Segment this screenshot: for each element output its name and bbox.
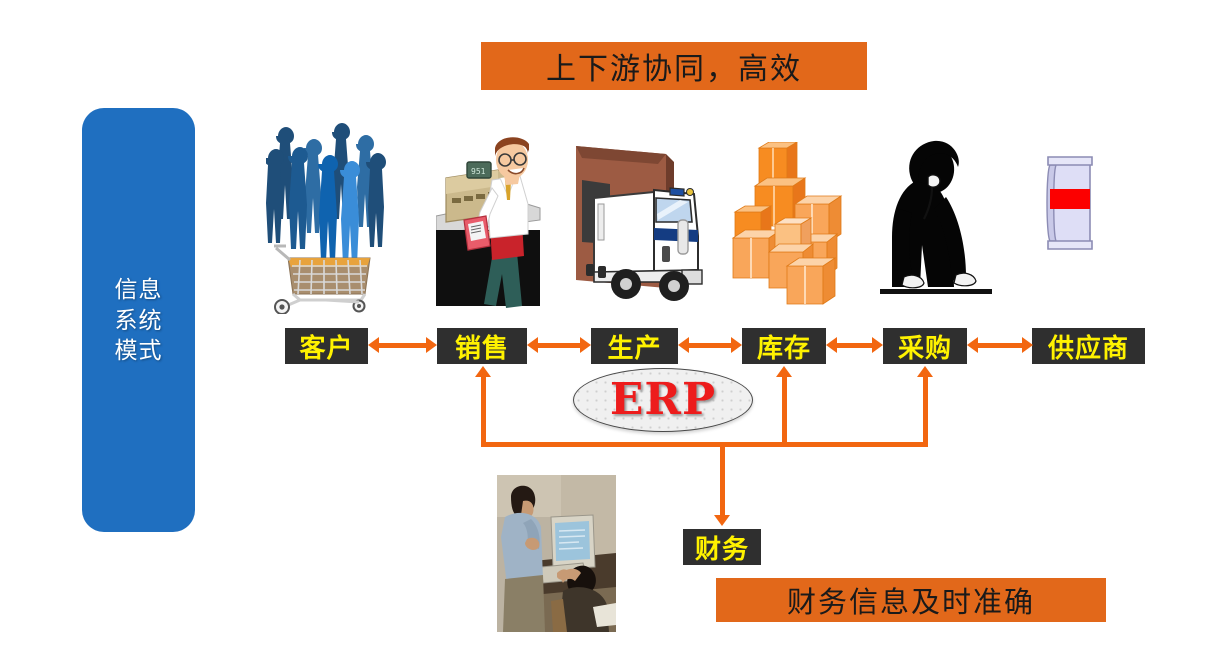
flow-node-production-label: 生产: [607, 328, 661, 365]
arrow-head-purchasing-supplier-right: [1022, 337, 1033, 353]
flow-node-sales-label: 销售: [455, 328, 509, 365]
flow-node-finance-label: 财务: [695, 529, 749, 566]
connector-customer-sales: [376, 343, 429, 348]
arrow-head-production-inventory-right: [731, 337, 742, 353]
erp-label: ERP: [610, 378, 716, 422]
arrow-head-inventory-purchasing-right: [872, 337, 883, 353]
flow-node-customer[interactable]: 客户: [285, 328, 368, 364]
erp-riser-purchasing: [923, 376, 928, 444]
flow-node-purchasing[interactable]: 采购: [883, 328, 967, 364]
arrow-head-customer-sales-left: [368, 337, 379, 353]
footer-banner-text: 财务信息及时准确: [787, 579, 1035, 621]
flow-node-finance[interactable]: 财务: [683, 529, 761, 565]
flow-node-inventory[interactable]: 库存: [742, 328, 826, 364]
erp-bus-line: [481, 442, 928, 447]
erp-riser-sales: [481, 376, 486, 444]
erp-ellipse: ERP: [573, 368, 753, 432]
connector-production-inventory: [686, 343, 734, 348]
arrow-head-erp-purchasing: [917, 366, 933, 377]
arrow-head-sales-production-left: [527, 337, 538, 353]
title-banner: 上下游协同，高效: [481, 42, 867, 90]
arrow-head-customer-sales-right: [426, 337, 437, 353]
connector-inventory-purchasing: [834, 343, 876, 348]
footer-banner: 财务信息及时准确: [716, 578, 1106, 622]
side-panel: 信息 系统 模式: [82, 108, 195, 532]
flow-node-customer-label: 客户: [299, 328, 353, 365]
side-panel-line-3: 模式: [115, 335, 163, 365]
erp-drop-finance: [720, 442, 725, 515]
connector-purchasing-supplier: [975, 343, 1025, 348]
arrow-head-purchasing-supplier-left: [967, 337, 978, 353]
erp-riser-inventory: [782, 376, 787, 444]
arrow-head-erp-sales: [475, 366, 491, 377]
flow-node-supplier-label: 供应商: [1048, 328, 1129, 365]
arrow-head-sales-production-right: [580, 337, 591, 353]
connector-sales-production: [535, 343, 583, 348]
flow-node-supplier[interactable]: 供应商: [1032, 328, 1145, 364]
arrow-head-production-inventory-left: [678, 337, 689, 353]
cashier-with-register-illustration: 951: [436, 134, 548, 312]
flow-node-purchasing-label: 采购: [898, 328, 952, 365]
beverage-can-illustration: [1042, 155, 1098, 251]
woman-on-telephone-silhouette: [880, 137, 1002, 314]
delivery-truck-at-warehouse-illustration: [570, 140, 705, 310]
svg-text:951: 951: [471, 167, 486, 176]
crowd-with-shopping-cart-illustration: [266, 118, 391, 314]
side-panel-label: 信息 系统 模式: [115, 274, 163, 365]
arrow-head-erp-finance: [714, 515, 730, 526]
stacked-cardboard-boxes-illustration: [731, 142, 859, 310]
slide-canvas: 上下游协同，高效 信息 系统 模式: [0, 0, 1205, 671]
arrow-head-inventory-purchasing-left: [826, 337, 837, 353]
side-panel-line-1: 信息: [115, 274, 163, 304]
flow-node-sales[interactable]: 销售: [437, 328, 527, 364]
arrow-head-erp-inventory: [776, 366, 792, 377]
flow-node-inventory-label: 库存: [757, 328, 811, 365]
two-people-at-computer-photo: [497, 475, 616, 632]
flow-node-production[interactable]: 生产: [591, 328, 678, 364]
title-banner-text: 上下游协同，高效: [546, 44, 802, 88]
side-panel-line-2: 系统: [115, 305, 163, 335]
